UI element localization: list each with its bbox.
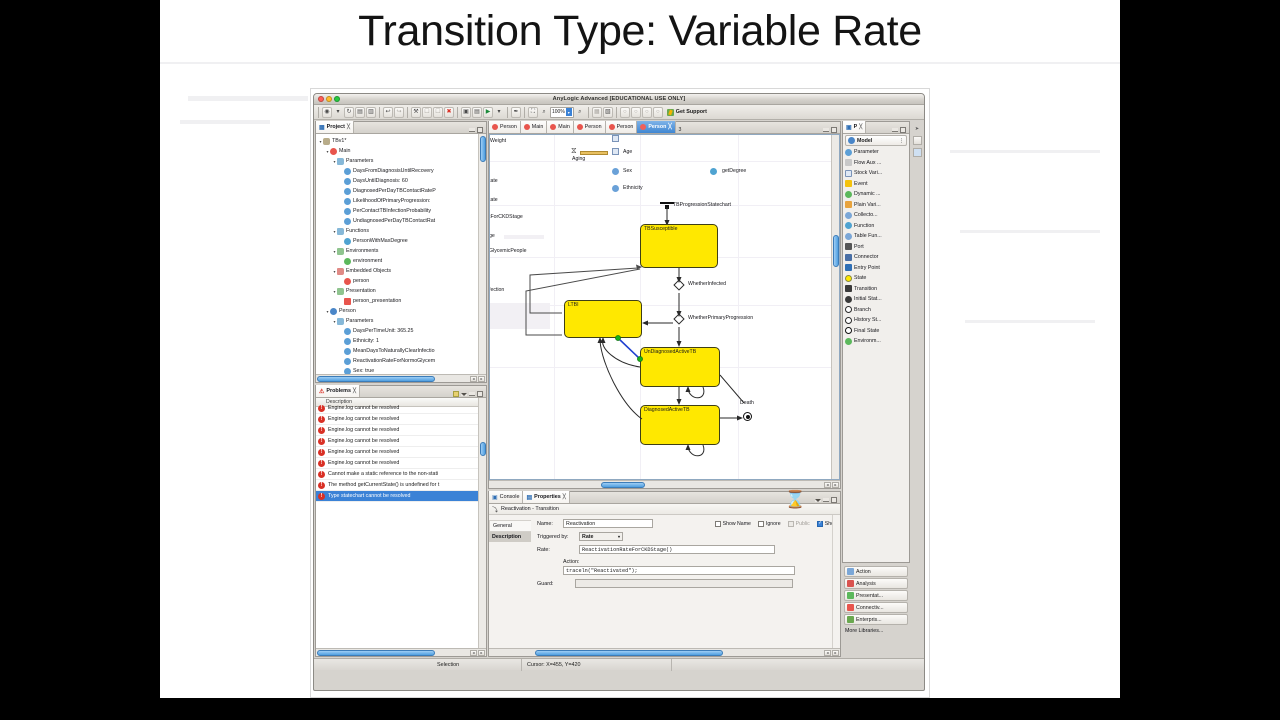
name-row: Name: Reactivation Show Name <box>537 519 836 528</box>
scroll-left-arrow[interactable]: ◂ <box>824 650 831 656</box>
palette-item-transition[interactable]: Transition <box>843 284 909 295</box>
slide-title: Transition Type: Variable Rate <box>160 2 1120 64</box>
maximize-icon[interactable] <box>900 127 906 133</box>
tree-item-label: LikelihoodOfPrimaryProgression: <box>353 198 430 204</box>
palette-item-label: Plain Vari... <box>854 202 881 208</box>
folder-icon <box>337 158 344 165</box>
hourglass-cursor-icon: ⌛ <box>785 491 806 508</box>
library-button[interactable]: Connectiv... <box>844 602 908 613</box>
palette-item-table-fn[interactable]: Table Fun... <box>843 231 909 242</box>
tree-item[interactable]: PerContactTBInfectionProbability <box>318 206 486 216</box>
tree-item[interactable]: ▾Presentation <box>318 286 486 296</box>
palette-group-model[interactable]: Model ⋮ <box>845 135 907 146</box>
scroll-left-arrow[interactable]: ◂ <box>470 376 477 382</box>
tree-item[interactable]: Ethnicity: 1 <box>318 336 486 346</box>
tree-item[interactable]: UndiagnosedPerDayTBContactRat <box>318 216 486 226</box>
problem-description: Engine.log cannot be resolved <box>328 460 399 466</box>
agent-icon <box>609 124 615 130</box>
palette-item-label: Flow Aux ... <box>854 160 881 166</box>
arrange-1-icon[interactable]: ○ <box>620 107 630 118</box>
port-icon <box>845 243 852 250</box>
problem-row[interactable]: !Engine.log cannot be resolved <box>316 458 486 469</box>
editor-tab[interactable]: Main <box>521 121 547 133</box>
console-icon: ▣ <box>492 494 498 501</box>
problem-row[interactable]: !Engine.log cannot be resolved <box>316 425 486 436</box>
palette-item-port[interactable]: Port <box>843 242 909 253</box>
scroll-thumb[interactable] <box>317 650 435 656</box>
tab-project-label: Project <box>327 124 345 130</box>
tree-item-label: MeanDaysToNaturallyClearInfectio <box>353 348 435 354</box>
diagram-canvas[interactable]: Weight tate tate tForCKDStage ge Glycemi… <box>489 134 840 480</box>
pres-icon <box>344 298 351 305</box>
checkbox-label: Ignore <box>766 521 781 527</box>
tree-item[interactable]: ▾Parameters <box>318 316 486 326</box>
tree-item-label: Person <box>339 308 356 314</box>
minimize-icon[interactable] <box>469 128 475 132</box>
rate-input[interactable]: ReactivationRateForCKDStage() <box>579 545 775 554</box>
align-icon[interactable]: ▦ <box>592 107 602 118</box>
param-icon <box>344 168 351 175</box>
close-icon[interactable]: ╳ <box>347 124 350 130</box>
editor-controls[interactable] <box>823 127 840 133</box>
zoom-in-icon[interactable]: ⌕ <box>575 107 585 118</box>
error-icon: ! <box>318 438 325 445</box>
palette-item-state[interactable]: State <box>843 273 909 284</box>
new-model-icon[interactable]: ◉ <box>322 107 332 118</box>
library-label: Presentat... <box>856 593 883 599</box>
palette-item-environment[interactable]: Environm... <box>843 336 909 347</box>
fast-view-strip[interactable]: ➤ <box>911 121 923 657</box>
run-chevron-down-icon[interactable]: ▾ <box>494 107 504 118</box>
transition-icon: ⤵ <box>492 505 498 514</box>
func-icon <box>344 238 351 245</box>
folder-icon <box>337 228 344 235</box>
palette-item-connector[interactable]: Connector <box>843 252 909 263</box>
project-icon: ▦ <box>319 124 325 131</box>
minimize-icon[interactable] <box>823 498 829 502</box>
tree-item-label: ReactivationRateForNormoGlycem <box>353 358 435 364</box>
tab-project[interactable]: ▦ Project ╳ <box>316 121 354 133</box>
properties-side-tabs[interactable]: General Description <box>489 515 531 648</box>
transition-icon <box>845 285 852 292</box>
palette-item-param[interactable]: Parameter <box>843 147 909 158</box>
left-column: ▦ Project ╳ ▾TBv1*▾Main▾ParametersDaysFr… <box>315 121 487 657</box>
triggered-by-label: Triggered by: <box>537 534 575 540</box>
palette-item-initial-state[interactable]: Initial Stat... <box>843 294 909 305</box>
palette-item-plain-var[interactable]: Plain Vari... <box>843 200 909 211</box>
zoom-level-combo[interactable]: 100% ▾ <box>550 107 574 118</box>
guard-input[interactable] <box>575 579 793 588</box>
scroll-thumb[interactable] <box>480 136 486 162</box>
scroll-thumb[interactable] <box>833 235 839 267</box>
problems-table-body[interactable]: Description !Engine.log cannot be resolv… <box>316 398 486 648</box>
error-icon: ! <box>318 405 325 412</box>
properties-hscrollbar[interactable]: ◂ ▸ <box>489 648 840 656</box>
restore-view-icon[interactable] <box>913 136 922 145</box>
palette-item-label: Event <box>854 181 868 187</box>
tree-item[interactable]: ▾Person <box>318 306 486 316</box>
palette-items[interactable]: ParameterFlow Aux ...Stock Vari...EventD… <box>843 147 909 347</box>
guard-label: Guard: <box>537 581 559 587</box>
checkbox-box <box>788 521 794 527</box>
palette-icon: ▣ <box>846 124 852 131</box>
tree-item[interactable]: ▾Parameters <box>318 156 486 166</box>
agent-icon <box>330 148 337 155</box>
filter-icon[interactable] <box>453 391 459 397</box>
library-label: Enterpris... <box>856 617 882 623</box>
name-input[interactable]: Reactivation <box>563 519 653 528</box>
problems-view-controls[interactable] <box>453 391 486 397</box>
group-icon[interactable]: ▧ <box>603 107 613 118</box>
tree-item-label: DaysUntilDiagnosis: 60 <box>353 178 408 184</box>
tree-item[interactable]: LikelihoodOfPrimaryProgression: <box>318 196 486 206</box>
tree-item[interactable]: DaysPerTimeUnit: 365.25 <box>318 326 486 336</box>
chevron-down-icon[interactable]: ▾ <box>566 108 572 116</box>
main-toolbar: ◉ ▾ ↻ ▤ ▥ ↩ ↪ ⚒ ☐ ☐ ✖ ▣ ▤ ▶ ▾ ✒ ⛶ ⌕ 100% <box>314 105 924 120</box>
param-icon <box>344 188 351 195</box>
toolbar-divider <box>379 107 380 118</box>
editor-tab-label: Person <box>617 124 634 130</box>
tab-console[interactable]: ▣ Console <box>489 491 523 503</box>
error-icon: ! <box>318 449 325 456</box>
checkbox-label: Public <box>796 521 810 527</box>
palette-item-branch[interactable]: Branch <box>843 305 909 316</box>
maximize-icon[interactable] <box>477 391 483 397</box>
triggered-by-value: Rate <box>582 534 593 540</box>
editor-tab[interactable]: Person <box>489 121 521 133</box>
palette-item-label: History St... <box>854 317 881 323</box>
error-icon: ! <box>318 482 325 489</box>
editor-tab-overflow[interactable]: 3 <box>676 127 685 133</box>
env-icon <box>344 258 351 265</box>
tree-item[interactable]: ▾Functions <box>318 226 486 236</box>
problem-row[interactable]: !The method getCurrentState() is undefin… <box>316 480 486 491</box>
tree-item-label: person <box>353 278 369 284</box>
open-icon[interactable]: ↻ <box>344 107 354 118</box>
problem-row[interactable]: !Type statechart cannot be resolved <box>316 491 486 502</box>
zoom-out-icon[interactable]: ⌕ <box>539 107 549 118</box>
undo-icon[interactable]: ↩ <box>383 107 393 118</box>
event-icon <box>845 180 852 187</box>
tree-item-label: DaysPerTimeUnit: 365.25 <box>353 328 413 334</box>
palette-item-dynamic[interactable]: Dynamic ... <box>843 189 909 200</box>
tab-problems-label: Problems <box>326 388 351 394</box>
status-mode: Selection <box>432 659 522 671</box>
problem-description: Cannot make a static reference to the no… <box>328 471 438 477</box>
run-config-alt-icon[interactable]: ▤ <box>472 107 482 118</box>
scroll-right-arrow[interactable]: ▸ <box>478 376 485 382</box>
canvas-vscrollbar[interactable] <box>831 135 839 479</box>
build-icon[interactable]: ⚒ <box>411 107 421 118</box>
tree-item[interactable]: DaysUntilDiagnosis: 60 <box>318 176 486 186</box>
workbench: ▦ Project ╳ ▾TBv1*▾Main▾ParametersDaysFr… <box>314 120 924 658</box>
properties-view: ▣ Console ▤ Properties ╳ <box>488 491 841 657</box>
scroll-right-arrow[interactable]: ▸ <box>832 650 839 656</box>
toolbar-divider <box>616 107 617 118</box>
palette-body[interactable]: Model ⋮ ParameterFlow Aux ...Stock Vari.… <box>843 134 909 562</box>
checkbox-box[interactable] <box>715 521 721 527</box>
close-icon[interactable]: ╳ <box>668 124 671 130</box>
palette-fastview-icon[interactable] <box>913 148 922 157</box>
problem-row[interactable]: !Engine.log cannot be resolved <box>316 403 486 414</box>
palette-item-label: Function <box>854 223 874 229</box>
minimize-icon[interactable] <box>892 128 898 132</box>
scroll-left-arrow[interactable]: ◂ <box>824 482 831 488</box>
param-icon <box>344 208 351 215</box>
editor-tab-label: Main <box>532 124 543 130</box>
save-all-icon[interactable]: ▥ <box>366 107 376 118</box>
problem-row[interactable]: !Engine.log cannot be resolved <box>316 447 486 458</box>
tree-item-label: Environments <box>346 248 378 254</box>
error-icon: ! <box>318 460 325 467</box>
library-icon <box>847 568 854 575</box>
project-view-controls[interactable] <box>469 127 486 133</box>
minimize-icon[interactable] <box>469 392 475 396</box>
param-icon <box>344 218 351 225</box>
project-view-tabs: ▦ Project ╳ <box>316 122 486 134</box>
tree-item[interactable]: ReactivationRateForNormoGlycem <box>318 356 486 366</box>
problems-rows[interactable]: !Engine.log cannot be resolved!Engine.lo… <box>316 403 486 502</box>
project-hscrollbar[interactable]: ◂ ▸ <box>316 374 486 382</box>
agent2-icon <box>330 308 337 315</box>
palette-item-final-state[interactable]: Final State <box>843 326 909 337</box>
close-icon[interactable]: ╳ <box>859 124 862 130</box>
tab-palette-label: P <box>854 124 858 130</box>
toolbar-divider <box>524 107 525 118</box>
problem-row[interactable]: !Cannot make a static reference to the n… <box>316 469 486 480</box>
library-icon <box>847 616 854 623</box>
window-titlebar: AnyLogic Advanced [EDUCATIONAL USE ONLY] <box>314 94 924 105</box>
name-label: Name: <box>537 521 559 527</box>
close-icon[interactable]: ╳ <box>563 494 566 500</box>
tab-palette[interactable]: ▣ P ╳ <box>843 121 866 133</box>
palette-item-label: Stock Vari... <box>854 170 882 176</box>
scroll-thumb[interactable] <box>480 442 486 456</box>
slide-canvas: Transition Type: Variable Rate AnyLogic … <box>160 0 1120 720</box>
palette-item-label: Initial Stat... <box>854 296 882 302</box>
tree-item[interactable]: MeanDaysToNaturallyClearInfectio <box>318 346 486 356</box>
side-tab-general[interactable]: General <box>489 520 531 532</box>
decorative-smudge <box>180 120 270 124</box>
palette-view-controls[interactable] <box>892 127 909 133</box>
checkbox-public: Public <box>788 521 810 527</box>
library-buttons[interactable]: ActionAnalysisPresentat...Connectiv...En… <box>842 565 910 626</box>
terminate-icon[interactable]: ✒ <box>511 107 521 118</box>
tree-item-label: PersonWithMaxDegree <box>353 238 408 244</box>
properties-view-controls[interactable] <box>815 497 840 503</box>
tab-problems[interactable]: ⚠ Problems ╳ <box>316 385 360 397</box>
library-button[interactable]: Enterpris... <box>844 614 908 625</box>
delete-icon[interactable]: ✖ <box>444 107 454 118</box>
minimize-icon[interactable] <box>823 128 829 132</box>
grip-icon[interactable]: ⋮ <box>899 138 906 144</box>
problem-description: Type statechart cannot be resolved <box>328 493 410 499</box>
diagram-editor: PersonMainMainPersonPersonPerson╳3 <box>488 121 841 489</box>
checkbox-show-name[interactable]: Show Name <box>715 521 751 527</box>
checkbox-label: Show Name <box>723 521 751 527</box>
param-icon <box>344 198 351 205</box>
rate-row: Rate: ReactivationRateForCKDStage() <box>537 545 836 554</box>
paste-icon[interactable]: ☐ <box>433 107 443 118</box>
view-menu-icon[interactable] <box>461 393 467 396</box>
editor-tab[interactable]: Person╳ <box>637 121 675 133</box>
triggered-by-select[interactable]: Rate ▾ <box>579 532 623 541</box>
problem-row[interactable]: !Engine.log cannot be resolved <box>316 414 486 425</box>
tree-item[interactable]: DiagnosedPerDayTBContactRateP <box>318 186 486 196</box>
canvas-hscrollbar[interactable]: ◂ ▸ <box>489 480 840 488</box>
editor-tab-label: Person <box>500 124 517 130</box>
folder g-icon <box>337 248 344 255</box>
table-fn-icon <box>845 233 852 240</box>
action-value: traceln("Reactivated"); <box>566 568 638 574</box>
get-support-button[interactable]: Get Support <box>667 109 707 116</box>
scroll-right-arrow[interactable]: ▸ <box>832 482 839 488</box>
project-view: ▦ Project ╳ ▾TBv1*▾Main▾ParametersDaysFr… <box>315 121 487 383</box>
arrange-2-icon[interactable]: ○ <box>631 107 641 118</box>
scroll-left-arrow[interactable]: ◂ <box>470 650 477 656</box>
run-icon[interactable]: ▶ <box>483 107 493 118</box>
guard-row: Guard: <box>537 579 836 588</box>
entry-point-icon[interactable]: ➤ <box>913 124 922 133</box>
flow-aux-icon <box>845 159 852 166</box>
environment-icon <box>845 338 852 345</box>
arrange-3-icon[interactable]: ○ <box>642 107 652 118</box>
state-icon <box>845 275 852 282</box>
param-icon <box>845 149 852 156</box>
maximize-icon[interactable] <box>477 127 483 133</box>
tree-item[interactable]: environment <box>318 256 486 266</box>
library-button[interactable]: Presentat... <box>844 590 908 601</box>
palette-item-function[interactable]: Function <box>843 221 909 232</box>
checkbox-box[interactable] <box>758 521 764 527</box>
tree-item-label: Functions <box>346 228 369 234</box>
run-config-icon[interactable]: ▣ <box>461 107 471 118</box>
toolbar-divider <box>588 107 589 118</box>
problem-row[interactable]: !Engine.log cannot be resolved <box>316 436 486 447</box>
library-button[interactable]: Analysis <box>844 578 908 589</box>
editor-tab[interactable]: Person <box>606 121 638 133</box>
tree-item-label: DiagnosedPerDayTBContactRateP <box>353 188 436 194</box>
close-icon[interactable]: ╳ <box>353 388 356 394</box>
properties-header-label: Reactivation - Transition <box>501 506 559 512</box>
editor-tabs[interactable]: PersonMainMainPersonPersonPerson╳3 <box>489 122 840 134</box>
checkbox-box[interactable] <box>817 521 823 527</box>
project-tree[interactable]: ▾TBv1*▾Main▾ParametersDaysFromDiagnosisU… <box>316 134 486 374</box>
palette-item-entry-point[interactable]: Entry Point <box>843 263 909 274</box>
decorative-smudge <box>965 320 1095 323</box>
tree-item[interactable]: DaysFromDiagnosisUntilRecovery <box>318 166 486 176</box>
problem-description: The method getCurrentState() is undefine… <box>328 482 439 488</box>
palette-item-label: Branch <box>854 307 871 313</box>
error-icon: ! <box>318 416 325 423</box>
center-column: PersonMainMainPersonPersonPerson╳3 <box>488 121 841 657</box>
agent-icon <box>524 124 530 130</box>
copy-icon[interactable]: ☐ <box>422 107 432 118</box>
editor-tab[interactable]: Main <box>547 121 573 133</box>
tab-console-label: Console <box>500 494 520 500</box>
project-tree-body[interactable]: ▾TBv1*▾Main▾ParametersDaysFromDiagnosisU… <box>316 134 486 374</box>
palette-item-history-state[interactable]: History St... <box>843 315 909 326</box>
library-icon <box>847 604 854 611</box>
problems-hscrollbar[interactable]: ◂ ▸ <box>316 648 486 656</box>
scroll-right-arrow[interactable]: ▸ <box>478 650 485 656</box>
tree-item-label: Main <box>339 148 350 154</box>
palette-item-collection[interactable]: Collecto... <box>843 210 909 221</box>
project-vscrollbar[interactable] <box>478 134 486 374</box>
maximize-icon[interactable] <box>831 497 837 503</box>
palette-item-event[interactable]: Event <box>843 179 909 190</box>
more-libraries-link[interactable]: More Libraries... <box>842 626 910 636</box>
tree-item[interactable]: PersonWithMaxDegree <box>318 236 486 246</box>
libraries-list: ActionAnalysisPresentat...Connectiv...En… <box>842 565 910 657</box>
editor-tab[interactable]: Person <box>574 121 606 133</box>
stock-icon <box>845 170 852 177</box>
tree-item-label: Ethnicity: 1 <box>353 338 379 344</box>
maximize-icon[interactable] <box>831 127 837 133</box>
tree-item[interactable]: person_presentation <box>318 296 486 306</box>
scroll-thumb[interactable] <box>535 650 723 656</box>
scroll-thumb[interactable] <box>317 376 435 382</box>
scroll-thumb[interactable] <box>601 482 645 488</box>
library-label: Action <box>856 569 871 575</box>
error-icon: ! <box>318 493 325 500</box>
initial-state-icon <box>845 296 852 303</box>
tree-item[interactable]: ▾Main <box>318 146 486 156</box>
arrange-4-icon[interactable]: ○ <box>653 107 663 118</box>
toolbar-divider <box>407 107 408 118</box>
agent-icon <box>640 124 646 130</box>
zoom-level-value: 100% <box>552 109 565 115</box>
palette-group-label: Model <box>857 138 872 144</box>
save-icon[interactable]: ▤ <box>355 107 365 118</box>
fast-view-bar: ➤ <box>911 121 923 657</box>
error-icon: ! <box>318 427 325 434</box>
palette-item-label: Entry Point <box>854 265 880 271</box>
redo-icon[interactable]: ↪ <box>394 107 404 118</box>
side-tab-description[interactable]: Description <box>489 532 531 542</box>
folder-icon <box>337 318 344 325</box>
param-icon <box>344 338 351 345</box>
status-cursor: Cursor: X=455, Y=420 <box>522 659 672 671</box>
diagram-content[interactable]: Weight tate tate tForCKDStage ge Glycemi… <box>490 135 839 479</box>
get-support-label: Get Support <box>676 109 707 115</box>
tree-item-label: PerContactTBInfectionProbability <box>353 208 431 214</box>
rate-value: ReactivationRateForCKDStage() <box>582 547 672 553</box>
tree-item[interactable]: ▾Embedded Objects <box>318 266 486 276</box>
tree-item-label: environment <box>353 258 382 264</box>
checkbox-ignore[interactable]: Ignore <box>758 521 781 527</box>
tree-item-label: Parameters <box>346 318 373 324</box>
tree-item[interactable]: ▾Environments <box>318 246 486 256</box>
action-input[interactable]: traceln("Reactivated"); <box>563 566 795 575</box>
view-menu-icon[interactable] <box>815 499 821 502</box>
problems-view: ⚠ Problems ╳ Description !E <box>315 385 487 657</box>
library-label: Analysis <box>856 581 876 587</box>
palette-item-flow-aux[interactable]: Flow Aux ... <box>843 158 909 169</box>
tree-item[interactable]: ▾TBv1* <box>318 136 486 146</box>
chevron-down-icon[interactable]: ▾ <box>333 107 343 118</box>
tree-item[interactable]: person <box>318 276 486 286</box>
properties-vscrollbar[interactable] <box>832 515 840 648</box>
problems-vscrollbar[interactable] <box>478 398 486 648</box>
chevron-down-icon[interactable]: ▾ <box>618 534 620 539</box>
triggered-by-row: Triggered by: Rate ▾ <box>537 532 836 541</box>
tab-properties[interactable]: ▤ Properties ╳ <box>523 491 569 503</box>
palette-item-stock[interactable]: Stock Vari... <box>843 168 909 179</box>
library-button[interactable]: Action <box>844 566 908 577</box>
tree-item[interactable]: Sex: true <box>318 366 486 374</box>
fit-to-window-icon[interactable]: ⛶ <box>528 107 538 118</box>
